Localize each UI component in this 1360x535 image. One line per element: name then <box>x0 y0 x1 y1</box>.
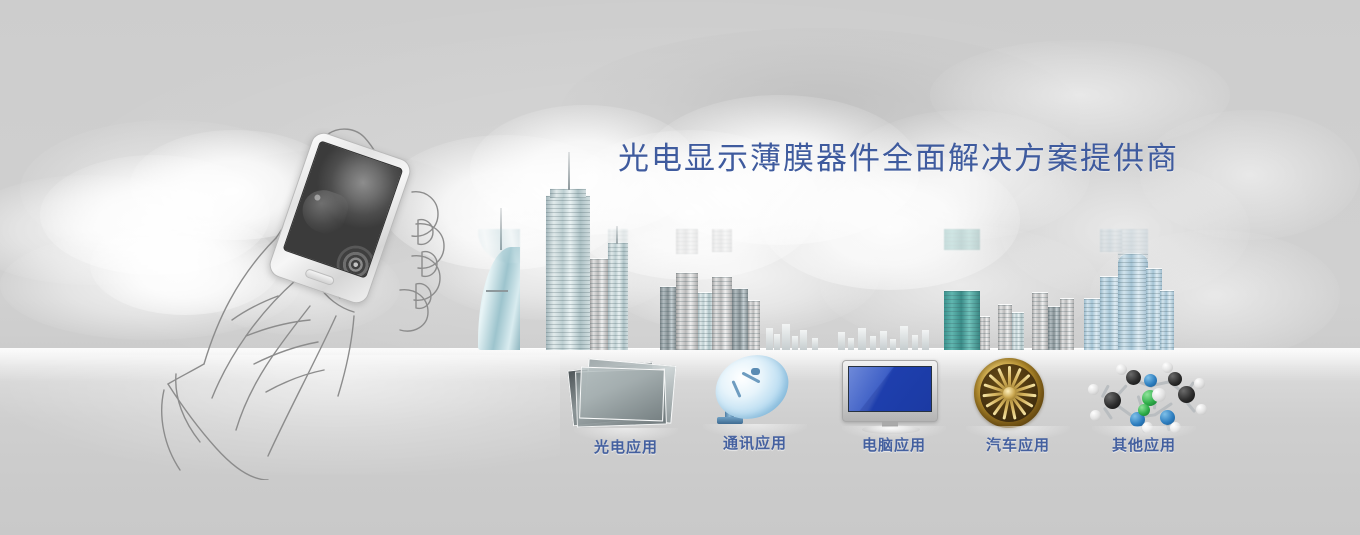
molecule-atom-metal <box>1138 404 1150 416</box>
satellite-dish-icon <box>685 354 825 426</box>
icon-reflection <box>703 424 807 438</box>
molecule-icon <box>1074 356 1214 428</box>
alloy-wheel-icon <box>948 356 1088 428</box>
molecule-atom-nitrogen <box>1144 374 1157 387</box>
molecule-atom-hydrogen <box>1090 410 1101 421</box>
application-icons-row: 光电应用 通讯应用 <box>0 0 1360 535</box>
monitor-screen <box>848 366 932 412</box>
dish-lnb <box>751 368 760 375</box>
molecule-atom-carbon <box>1168 372 1182 386</box>
glass-film-sheets-icon <box>556 358 696 430</box>
molecule-atom-hydrogen <box>1152 388 1166 402</box>
molecule-atom-hydrogen <box>1194 378 1205 389</box>
molecule-atom-hydrogen <box>1116 364 1127 375</box>
molecule-atom-carbon <box>1126 370 1141 385</box>
molecule-atom-hydrogen <box>1196 404 1207 415</box>
application-item-computer[interactable]: 电脑应用 <box>824 356 964 455</box>
wheel-hub <box>1003 387 1016 400</box>
monitor-bezel <box>842 360 938 422</box>
icon-reflection <box>1092 426 1196 440</box>
application-item-communication[interactable]: 通讯应用 <box>685 354 825 453</box>
molecule-model <box>1080 358 1208 428</box>
icon-reflection <box>574 428 678 442</box>
icon-reflection <box>842 426 946 440</box>
monitor-glare <box>849 367 900 411</box>
molecule-atom-carbon <box>1178 386 1195 403</box>
dish-reflector <box>712 348 792 425</box>
application-item-other[interactable]: 其他应用 <box>1074 356 1214 455</box>
application-item-optoelectronic[interactable]: 光电应用 <box>556 358 696 457</box>
wheel-rim <box>974 358 1044 428</box>
promo-banner: 光电显示薄膜器件全面解决方案提供商 光电应用 <box>0 0 1360 535</box>
molecule-atom-hydrogen <box>1088 384 1099 395</box>
molecule-atom-hydrogen <box>1162 362 1173 373</box>
monitor-icon <box>824 356 964 428</box>
sheet-layer-4 <box>579 367 665 422</box>
application-item-automotive[interactable]: 汽车应用 <box>948 356 1088 455</box>
molecule-atom-carbon <box>1104 392 1121 409</box>
icon-reflection <box>966 426 1070 440</box>
